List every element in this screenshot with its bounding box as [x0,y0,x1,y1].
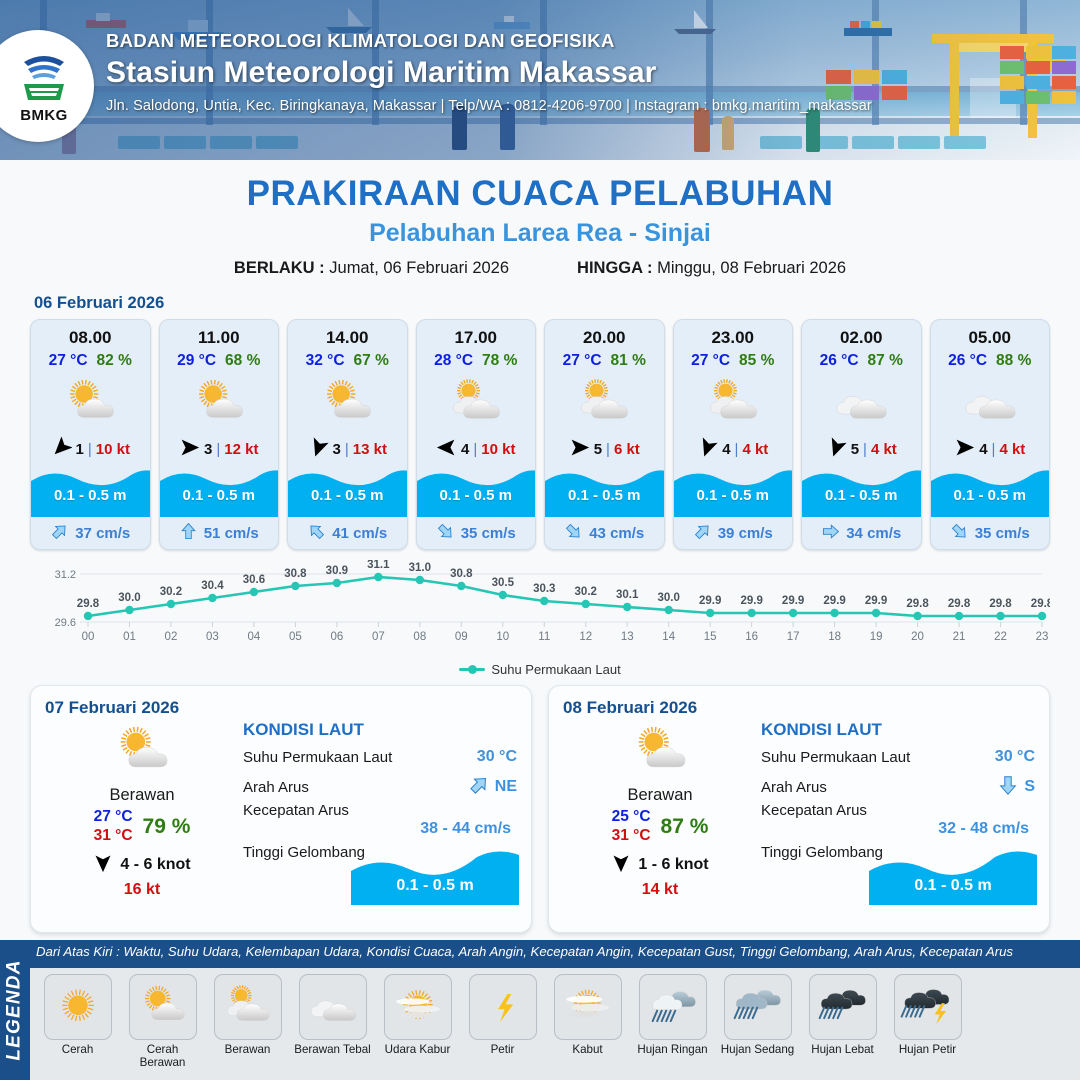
sea-label: Kecepatan Arus [761,802,1035,820]
svg-text:29.6: 29.6 [55,617,76,629]
sea-condition-title: KONDISI LAUT [243,720,517,740]
svg-text:30.2: 30.2 [575,586,597,598]
sea-current-direction: NE [495,778,517,796]
svg-text:29.9: 29.9 [740,595,762,607]
card-weather-icon [802,372,921,434]
header-text-block: BADAN METEOROLOGI KLIMATOLOGI DAN GEOFIS… [106,30,1066,114]
chart-legend-label: Suhu Permukaan Laut [491,662,620,677]
legenda-icon-box [639,974,707,1040]
svg-text:02: 02 [165,631,178,643]
card-weather-icon [674,372,793,434]
svg-text:00: 00 [82,631,95,643]
card-wave-band: 0.1 - 0.5 m [31,465,150,517]
forecast-card-list: 08.0027 °C82 %1|10 kt0.1 - 0.5 m37 cm/s1… [0,319,1080,550]
bmkg-logo-mark [16,48,72,106]
berlaku-label: BERLAKU : [234,259,325,277]
svg-text:21: 21 [953,631,966,643]
svg-text:19: 19 [870,631,883,643]
card-wind-row: 3|12 kt [160,436,279,462]
card-current-row: 39 cm/s [674,517,793,549]
legenda-side-label-wrap: LEGENDA [0,940,30,1080]
svg-text:03: 03 [206,631,219,643]
hingga-label: HINGGA : [577,259,652,277]
forecast-card[interactable]: 02.0026 °C87 %5|4 kt0.1 - 0.5 m34 cm/s [801,319,922,550]
card-time: 11.00 [160,320,279,348]
card-wind-speed: 4 kt [742,441,768,458]
sea-current-direction: S [1024,778,1035,796]
svg-text:30.2: 30.2 [160,586,182,598]
current-direction-arrow-icon [821,522,840,545]
legenda-icon-box [384,974,452,1040]
card-current-speed: 37 cm/s [75,525,130,542]
svg-text:31.0: 31.0 [409,562,431,574]
svg-text:18: 18 [828,631,841,643]
daily-temp-min: 27 °C [94,808,133,827]
card-time: 14.00 [288,320,407,348]
forecast-card[interactable]: 17.0028 °C78 %4|10 kt0.1 - 0.5 m35 cm/s [416,319,537,550]
card-current-row: 35 cm/s [417,517,536,549]
daily-temp-column: 25 °C31 °C [612,808,651,846]
legenda-item-label: Cerah Berawan [123,1044,202,1070]
svg-text:30.9: 30.9 [326,565,348,577]
svg-text:30.0: 30.0 [658,592,680,604]
sea-value-wrap: S [997,774,1035,801]
current-direction-arrow-icon [436,522,455,545]
card-wind-scale: 3 [333,441,341,458]
card-wind-scale: 1 [76,441,84,458]
card-wave-height: 0.1 - 0.5 m [674,487,793,504]
daily-wave-graphic: 0.1 - 0.5 m [869,849,1037,905]
card-wind-row: 4|4 kt [674,436,793,462]
card-time: 05.00 [931,320,1050,348]
card-temp-hum: 26 °C87 % [802,352,921,370]
daily-temp-max: 31 °C [94,827,133,846]
svg-text:29.9: 29.9 [823,595,845,607]
svg-text:29.9: 29.9 [699,595,721,607]
card-humidity: 81 % [611,352,646,370]
legenda-item-label: Udara Kabur [385,1044,451,1057]
card-wave-band: 0.1 - 0.5 m [802,465,921,517]
card-wind-separator: | [992,441,996,458]
svg-text:29.9: 29.9 [782,595,804,607]
svg-text:08: 08 [413,631,426,643]
legenda-icon-box [469,974,537,1040]
svg-text:30.6: 30.6 [243,574,265,586]
card-wind-scale: 5 [594,441,602,458]
wind-direction-arrow-icon [954,437,975,462]
forecast-card[interactable]: 20.0027 °C81 %5|6 kt0.1 - 0.5 m43 cm/s [544,319,665,550]
legenda-item: Hujan Petir [888,974,967,1080]
daily-wind-row: 4 - 6 knot [45,853,239,878]
current-direction-arrow-icon [307,522,326,545]
svg-text:29.8: 29.8 [989,598,1012,610]
legenda-item: Hujan Ringan [633,974,712,1080]
card-current-speed: 35 cm/s [975,525,1030,542]
berlaku-group: BERLAKU : Jumat, 06 Februari 2026 [234,259,509,278]
wind-direction-arrow-icon [697,437,718,462]
hingga-value: Minggu, 08 Februari 2026 [657,259,846,277]
svg-text:29.9: 29.9 [865,595,887,607]
card-current-speed: 51 cm/s [204,525,259,542]
current-direction-arrow-icon [997,774,1019,801]
card-wind-scale: 4 [722,441,730,458]
card-humidity: 85 % [739,352,774,370]
sea-label: Arah Arus [761,779,827,796]
card-temperature: 27 °C [49,352,88,370]
legenda-icon-box [809,974,877,1040]
daily-gust: 16 kt [45,881,239,899]
wind-direction-arrow-icon [569,437,590,462]
card-temperature: 32 °C [306,352,345,370]
card-wind-row: 4|10 kt [417,436,536,462]
daily-wind-range: 4 - 6 knot [120,856,190,874]
card-time: 23.00 [674,320,793,348]
card-wave-height: 0.1 - 0.5 m [417,487,536,504]
card-weather-icon [160,372,279,434]
card-wave-band: 0.1 - 0.5 m [931,465,1050,517]
legenda-bar: LEGENDA Dari Atas Kiri : Waktu, Suhu Uda… [0,940,1080,1080]
card-wind-row: 3|13 kt [288,436,407,462]
sea-row-current-speed: Kecepatan Arus32 - 48 cm/s [761,802,1035,838]
sst-chart: 31.229.629.80030.00130.20230.40330.60430… [30,560,1050,660]
card-weather-icon [288,372,407,434]
sea-row-current-dir: Arah ArusS [761,772,1035,802]
daily-temp-column: 27 °C31 °C [94,808,133,846]
sea-label: Suhu Permukaan Laut [243,749,392,766]
berlaku-value: Jumat, 06 Februari 2026 [329,259,509,277]
sst-chart-svg: 31.229.629.80030.00130.20230.40330.60430… [30,560,1050,660]
daily-split: Berawan25 °C31 °C87 %1 - 6 knot14 ktKOND… [563,720,1035,899]
card-wind-speed: 4 kt [999,441,1025,458]
daily-forecast-card[interactable]: 08 Februari 2026Berawan25 °C31 °C87 %1 -… [548,685,1050,933]
legenda-item-label: Hujan Lebat [811,1044,874,1057]
svg-text:15: 15 [704,631,717,643]
wind-direction-arrow-icon [436,437,457,462]
sea-row-current-speed: Kecepatan Arus38 - 44 cm/s [243,802,517,838]
sea-value-wrap: NE [468,774,517,801]
legenda-item: Petir [463,974,542,1080]
card-humidity: 78 % [482,352,517,370]
wind-direction-arrow-icon [826,437,847,462]
card-wave-band: 0.1 - 0.5 m [674,465,793,517]
card-wind-row: 5|4 kt [802,436,921,462]
card-wind-separator: | [606,441,610,458]
sea-label: Kecepatan Arus [243,802,517,820]
card-weather-icon [417,372,536,434]
legenda-item: Berawan Tebal [293,974,372,1080]
forecast-card[interactable]: 11.0029 °C68 %3|12 kt0.1 - 0.5 m51 cm/s [159,319,280,550]
svg-text:12: 12 [579,631,592,643]
svg-text:01: 01 [123,631,136,643]
current-direction-arrow-icon [950,522,969,545]
card-humidity: 68 % [225,352,260,370]
legenda-item: Berawan [208,974,287,1080]
legenda-item-label: Berawan [225,1044,271,1057]
legenda-side-label: LEGENDA [4,959,26,1060]
legenda-icon-box [214,974,282,1040]
card-wave-height: 0.1 - 0.5 m [931,487,1050,504]
svg-text:07: 07 [372,631,385,643]
card-temp-hum: 26 °C88 % [931,352,1050,370]
card-wave-band: 0.1 - 0.5 m [545,465,664,517]
card-current-speed: 39 cm/s [718,525,773,542]
legenda-item: Kabut [548,974,627,1080]
current-direction-arrow-icon [50,522,69,545]
forecast-date-label: 06 Februari 2026 [34,294,1080,313]
card-wind-separator: | [88,441,92,458]
card-current-row: 41 cm/s [288,517,407,549]
sea-current-speed: 32 - 48 cm/s [761,820,1035,838]
daily-weather-icon [563,720,757,784]
daily-temp-hum: 27 °C31 °C79 % [45,808,239,846]
svg-text:10: 10 [496,631,509,643]
card-wave-band: 0.1 - 0.5 m [417,465,536,517]
daily-left-column: Berawan25 °C31 °C87 %1 - 6 knot14 kt [563,720,757,899]
wind-direction-arrow-icon [308,437,329,462]
card-wind-speed: 4 kt [871,441,897,458]
card-temperature: 26 °C [820,352,859,370]
card-temp-hum: 27 °C85 % [674,352,793,370]
card-wind-speed: 6 kt [614,441,640,458]
svg-text:29.8: 29.8 [948,598,971,610]
svg-text:30.3: 30.3 [533,583,555,595]
card-current-speed: 34 cm/s [846,525,901,542]
svg-text:29.8: 29.8 [77,598,100,610]
agency-name: BADAN METEOROLOGI KLIMATOLOGI DAN GEOFIS… [106,30,1066,52]
sea-row-sst: Suhu Permukaan Laut30 °C [761,742,1035,772]
card-weather-icon [31,372,150,434]
forecast-card[interactable]: 23.0027 °C85 %4|4 kt0.1 - 0.5 m39 cm/s [673,319,794,550]
card-current-row: 37 cm/s [31,517,150,549]
svg-text:11: 11 [538,631,550,643]
daily-condition: Berawan [45,786,239,805]
card-time: 08.00 [31,320,150,348]
current-direction-arrow-icon [179,522,198,545]
card-current-row: 34 cm/s [802,517,921,549]
svg-text:20: 20 [911,631,924,643]
svg-text:05: 05 [289,631,302,643]
card-temperature: 28 °C [434,352,473,370]
card-time: 02.00 [802,320,921,348]
daily-temp-max: 31 °C [612,827,651,846]
card-time: 17.00 [417,320,536,348]
daily-humidity: 79 % [143,815,191,839]
legenda-item: Hujan Sedang [718,974,797,1080]
daily-sea-column: KONDISI LAUTSuhu Permukaan Laut30 °CArah… [239,720,517,899]
contact-line: Jln. Salodong, Untia, Kec. Biringkanaya,… [106,98,1066,114]
card-humidity: 82 % [97,352,132,370]
card-humidity: 87 % [868,352,903,370]
svg-text:09: 09 [455,631,468,643]
svg-text:17: 17 [787,631,800,643]
card-wind-separator: | [216,441,220,458]
card-wind-row: 1|10 kt [31,436,150,462]
legenda-icon-box [724,974,792,1040]
station-name: Stasiun Meteorologi Maritim Makassar [106,56,1066,90]
legenda-icon-box [894,974,962,1040]
svg-text:30.4: 30.4 [201,580,224,592]
page-subtitle: Pelabuhan Larea Rea - Sinjai [0,219,1080,248]
page-header: BMKG BADAN METEOROLOGI KLIMATOLOGI DAN G… [0,0,1080,160]
card-current-row: 43 cm/s [545,517,664,549]
daily-gust: 14 kt [563,881,757,899]
forecast-card[interactable]: 08.0027 °C82 %1|10 kt0.1 - 0.5 m37 cm/s [30,319,151,550]
svg-text:29.8: 29.8 [1031,598,1050,610]
card-wind-row: 4|4 kt [931,436,1050,462]
card-wind-speed: 10 kt [481,441,515,458]
card-temperature: 27 °C [563,352,602,370]
daily-split: Berawan27 °C31 °C79 %4 - 6 knot16 ktKOND… [45,720,517,899]
daily-temp-min: 25 °C [612,808,651,827]
sea-label: Arah Arus [243,779,309,796]
daily-wind-row: 1 - 6 knot [563,853,757,878]
legenda-item-label: Kabut [572,1044,602,1057]
forecast-card[interactable]: 14.0032 °C67 %3|13 kt0.1 - 0.5 m41 cm/s [287,319,408,550]
card-humidity: 67 % [354,352,389,370]
card-wind-separator: | [345,441,349,458]
card-wind-scale: 4 [461,441,469,458]
bmkg-logo-text: BMKG [20,107,67,124]
card-temp-hum: 27 °C82 % [31,352,150,370]
card-wind-scale: 5 [851,441,859,458]
card-weather-icon [545,372,664,434]
svg-text:23: 23 [1036,631,1049,643]
svg-text:30.8: 30.8 [450,568,473,580]
daily-forecast-card[interactable]: 07 Februari 2026Berawan27 °C31 °C79 %4 -… [30,685,532,933]
current-direction-arrow-icon [693,522,712,545]
sea-value: 30 °C [477,748,517,766]
card-temp-hum: 32 °C67 % [288,352,407,370]
card-wave-height: 0.1 - 0.5 m [160,487,279,504]
card-wave-height: 0.1 - 0.5 m [31,487,150,504]
sea-label: Suhu Permukaan Laut [761,749,910,766]
card-wave-band: 0.1 - 0.5 m [160,465,279,517]
card-time: 20.00 [545,320,664,348]
sea-condition-title: KONDISI LAUT [761,720,1035,740]
card-temp-hum: 28 °C78 % [417,352,536,370]
legenda-item: Hujan Lebat [803,974,882,1080]
legenda-item-label: Petir [491,1044,515,1057]
card-wind-scale: 3 [204,441,212,458]
card-humidity: 88 % [996,352,1031,370]
wind-direction-arrow-icon [179,437,200,462]
card-current-speed: 35 cm/s [461,525,516,542]
card-wave-band: 0.1 - 0.5 m [288,465,407,517]
daily-wave-height: 0.1 - 0.5 m [869,877,1037,895]
daily-forecast-panels: 07 Februari 2026Berawan27 °C31 °C79 %4 -… [0,677,1080,933]
card-wave-height: 0.1 - 0.5 m [288,487,407,504]
card-wind-separator: | [863,441,867,458]
svg-text:30.1: 30.1 [616,589,639,601]
legenda-item: Cerah [38,974,117,1080]
card-temp-hum: 27 °C81 % [545,352,664,370]
card-temperature: 29 °C [177,352,216,370]
legenda-icon-box [299,974,367,1040]
legenda-item-label: Berawan Tebal [294,1044,371,1057]
wind-direction-arrow-icon [611,853,631,878]
card-temperature: 27 °C [691,352,730,370]
card-wave-height: 0.1 - 0.5 m [802,487,921,504]
svg-text:30.8: 30.8 [284,568,307,580]
legenda-icon-box [44,974,112,1040]
legenda-item-label: Hujan Sedang [721,1044,795,1057]
legenda-item-label: Cerah [62,1044,94,1057]
chart-legend: Suhu Permukaan Laut [0,662,1080,677]
card-current-speed: 41 cm/s [332,525,387,542]
card-current-speed: 43 cm/s [589,525,644,542]
sea-row-current-dir: Arah ArusNE [243,772,517,802]
svg-text:13: 13 [621,631,634,643]
forecast-card[interactable]: 05.0026 °C88 %4|4 kt0.1 - 0.5 m35 cm/s [930,319,1051,550]
svg-text:14: 14 [662,631,675,643]
legenda-item-label: Hujan Petir [899,1044,956,1057]
daily-wave-height: 0.1 - 0.5 m [351,877,519,895]
card-wind-separator: | [473,441,477,458]
card-current-row: 51 cm/s [160,517,279,549]
daily-date: 08 Februari 2026 [563,698,1035,718]
card-wind-row: 5|6 kt [545,436,664,462]
card-weather-icon [931,372,1050,434]
card-wind-speed: 12 kt [224,441,258,458]
chart-legend-swatch [459,668,485,671]
legenda-icon-box [554,974,622,1040]
daily-temp-hum: 25 °C31 °C87 % [563,808,757,846]
svg-text:31.2: 31.2 [55,569,76,581]
card-wind-speed: 10 kt [96,441,130,458]
current-direction-arrow-icon [564,522,583,545]
svg-text:31.1: 31.1 [367,560,390,571]
legenda-icon-box [129,974,197,1040]
current-direction-arrow-icon [468,774,490,801]
svg-text:29.8: 29.8 [906,598,929,610]
card-current-row: 35 cm/s [931,517,1050,549]
card-temperature: 26 °C [948,352,987,370]
legenda-note: Dari Atas Kiri : Waktu, Suhu Udara, Kele… [36,944,1076,959]
card-temp-hum: 29 °C68 % [160,352,279,370]
legenda-icon-strip: CerahCerah BerawanBerawanBerawan TebalUd… [30,968,1080,1080]
svg-text:22: 22 [994,631,1007,643]
daily-humidity: 87 % [661,815,709,839]
title-block: PRAKIRAAN CUACA PELABUHAN Pelabuhan Lare… [0,174,1080,278]
daily-wave-graphic: 0.1 - 0.5 m [351,849,519,905]
daily-sea-column: KONDISI LAUTSuhu Permukaan Laut30 °CArah… [757,720,1035,899]
legenda-item: Cerah Berawan [123,974,202,1080]
daily-wind-range: 1 - 6 knot [638,856,708,874]
wind-direction-arrow-icon [93,853,113,878]
card-wind-separator: | [735,441,739,458]
card-wind-scale: 4 [979,441,987,458]
daily-left-column: Berawan27 °C31 °C79 %4 - 6 knot16 kt [45,720,239,899]
legenda-item: Udara Kabur [378,974,457,1080]
hingga-group: HINGGA : Minggu, 08 Februari 2026 [577,259,846,278]
sea-value: 30 °C [995,748,1035,766]
card-wave-height: 0.1 - 0.5 m [545,487,664,504]
sea-row-sst: Suhu Permukaan Laut30 °C [243,742,517,772]
sea-current-speed: 38 - 44 cm/s [243,820,517,838]
daily-weather-icon [45,720,239,784]
validity-row: BERLAKU : Jumat, 06 Februari 2026 HINGGA… [0,259,1080,278]
card-wind-speed: 13 kt [353,441,387,458]
daily-condition: Berawan [563,786,757,805]
legenda-item-label: Hujan Ringan [637,1044,707,1057]
wind-direction-arrow-icon [51,437,72,462]
svg-text:30.5: 30.5 [492,577,515,589]
svg-text:06: 06 [330,631,343,643]
daily-date: 07 Februari 2026 [45,698,517,718]
svg-text:04: 04 [248,631,261,643]
svg-text:16: 16 [745,631,758,643]
page-title: PRAKIRAAN CUACA PELABUHAN [0,174,1080,214]
